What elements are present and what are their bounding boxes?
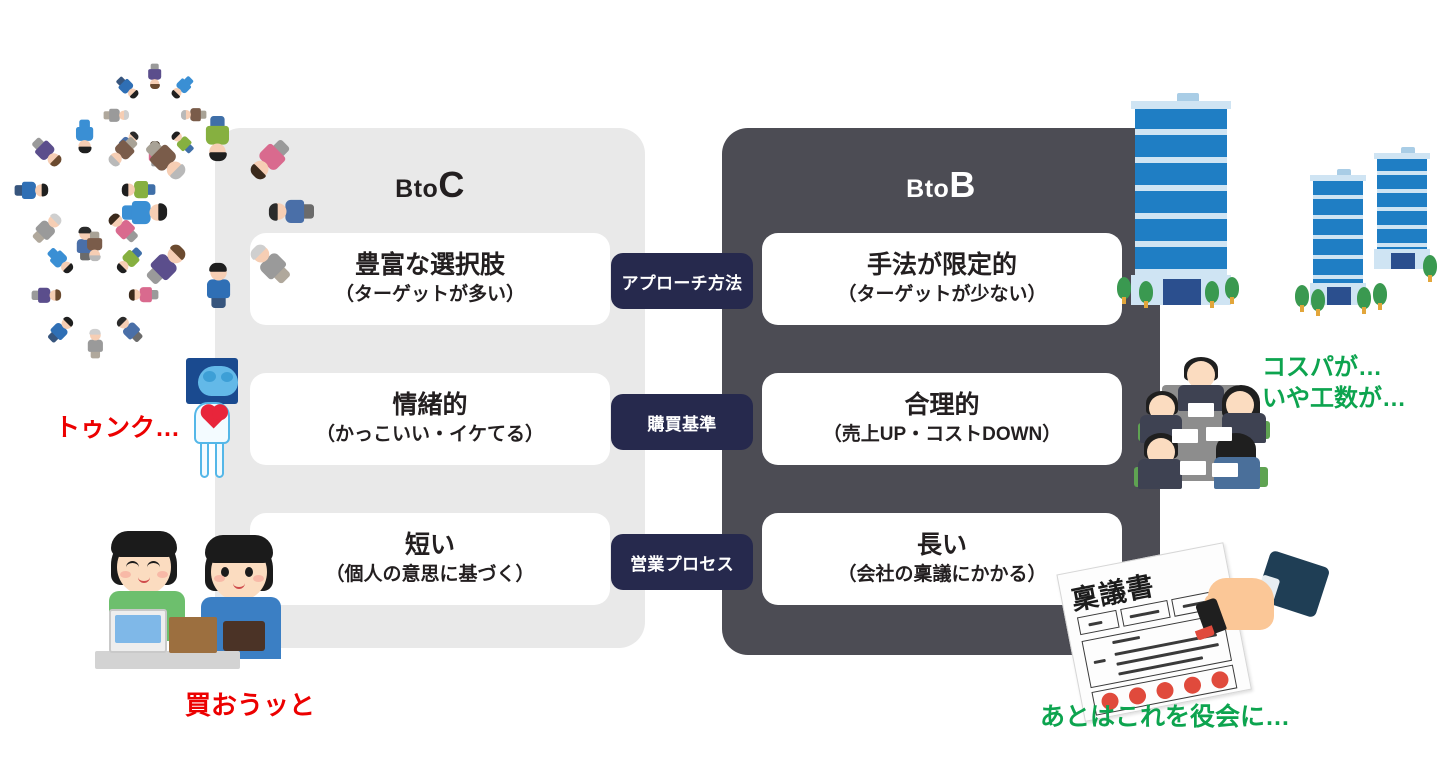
building-tall-band-5 [1135, 241, 1227, 247]
meeting-paper [1212, 463, 1238, 477]
person-figure [87, 330, 103, 359]
btoc-card-approach-main: 豊富な選択肢 [355, 250, 505, 280]
figure-leg-right [215, 442, 224, 478]
person-figure [105, 134, 141, 170]
building-mid-band-3 [1313, 235, 1363, 239]
building-right-band-4 [1377, 225, 1427, 229]
btob-card-approach-sub: （ターゲットが少ない） [837, 282, 1046, 308]
meeting-paper [1180, 461, 1206, 475]
person-figure [169, 74, 196, 101]
clerk-eye-right [147, 561, 160, 568]
meeting-paper [1188, 403, 1214, 417]
people-ring-2 [25, 130, 145, 250]
clerk-fringe [111, 531, 177, 557]
person-figure [148, 64, 162, 89]
person-figure [246, 136, 294, 184]
btoc-card-approach-sub: （ターゲットが多い） [335, 282, 525, 308]
clerk-eye-left [126, 561, 139, 568]
person-figure [206, 264, 230, 308]
building-mid-door [1327, 287, 1351, 305]
btob-title-suffix: B [949, 164, 976, 205]
building-tall-band-2 [1135, 157, 1227, 163]
person-figure [142, 136, 190, 184]
customer-cheek-right [253, 575, 264, 582]
annotation-kaou: 買おうッと [185, 689, 315, 723]
person-figure [45, 314, 77, 346]
building-mid-band-2 [1313, 215, 1363, 219]
btoc-card-criteria: 情緒的 （かっこいい・イケてる） [250, 373, 610, 465]
center-label-approach: アプローチ方法 [611, 253, 753, 309]
annotation-cospa: コスパが… いや工数が… [1262, 352, 1406, 414]
meeting-paper [1172, 429, 1198, 443]
shop-counter [95, 651, 240, 669]
btob-title-prefix: Bto [906, 175, 949, 203]
btob-card-approach-main: 手法が限定的 [867, 250, 1017, 280]
building-mid-band-4 [1313, 255, 1363, 259]
person-figure [182, 108, 207, 122]
building-tall-band-3 [1135, 185, 1227, 191]
person-figure [270, 200, 314, 224]
person-figure [87, 232, 103, 261]
business-meeting-illustration [1130, 345, 1280, 495]
btoc-title-suffix: C [438, 164, 465, 205]
people-ring-3 [40, 240, 150, 350]
stamping-hand-illustration [1200, 556, 1330, 666]
meeting-paper [1206, 427, 1232, 441]
person-figure [32, 287, 61, 303]
building-mid-band-1 [1313, 195, 1363, 199]
center-label-criteria: 購買基準 [611, 394, 753, 450]
btob-card-process-main: 長い [917, 530, 967, 560]
clerk-cheek-right [157, 571, 168, 578]
building-right-band-3 [1377, 207, 1427, 211]
btob-panel-title: BtoB [722, 164, 1160, 206]
building-right-door [1391, 253, 1415, 269]
customer-wallet [223, 621, 265, 651]
building-mid-top [1310, 175, 1366, 181]
btob-card-criteria-main: 合理的 [904, 390, 979, 420]
person-figure [246, 240, 294, 288]
building-tall-door [1163, 279, 1201, 305]
btob-card-approach: 手法が限定的 （ターゲットが少ない） [762, 233, 1122, 325]
building-right-top [1374, 153, 1430, 159]
person-figure [15, 181, 48, 199]
figure-leg-left [200, 442, 209, 478]
btob-card-criteria: 合理的 （売上UP・コストDOWN） [762, 373, 1122, 465]
building-right-band-1 [1377, 171, 1427, 175]
customer-fringe [205, 535, 273, 563]
center-label-process: 営業プロセス [611, 534, 753, 590]
building-tall-band-4 [1135, 213, 1227, 219]
person-figure [76, 120, 94, 153]
clerk-cheek-left [120, 571, 131, 578]
brain-heart-figure-illustration [180, 358, 244, 482]
person-figure [104, 108, 129, 122]
people-rings-illustration [20, 60, 340, 325]
brain-icon [198, 366, 238, 396]
building-right-band-2 [1377, 189, 1427, 193]
customer-cheek-left [214, 575, 225, 582]
person-figure [142, 240, 190, 288]
register-screen [115, 615, 161, 643]
person-figure [206, 116, 230, 160]
btoc-card-process-main: 短い [405, 530, 455, 560]
btoc-title-prefix: Bto [395, 175, 438, 203]
office-buildings-illustration [1115, 85, 1440, 330]
building-tall-band-1 [1135, 129, 1227, 135]
annotation-yakukai: あとはこれを役会に… [1040, 701, 1290, 734]
customer-eye-right [245, 567, 253, 577]
btoc-card-criteria-sub: （かっこいい・イケてる） [316, 422, 544, 448]
building-right-band-5 [1377, 243, 1427, 247]
diagram-canvas: BtoC 豊富な選択肢 （ターゲットが多い） 情緒的 （かっこいい・イケてる） … [0, 0, 1440, 776]
btob-card-process-sub: （会社の稟議にかかる） [837, 562, 1046, 588]
people-ring-4 [138, 132, 298, 292]
person-figure [114, 314, 146, 346]
btob-card-criteria-sub: （売上UP・コストDOWN） [823, 422, 1062, 448]
brain-screen-icon [186, 358, 238, 404]
annotation-tunku: トゥンク… [55, 412, 180, 445]
shop-checkout-illustration [95, 525, 310, 685]
person-figure [122, 200, 166, 224]
btoc-card-process-sub: （個人の意思に基づく） [325, 562, 534, 588]
person-figure [45, 245, 77, 277]
building-mid-band-5 [1313, 275, 1363, 279]
person-figure [29, 134, 65, 170]
person-figure [114, 74, 141, 101]
building-tall-top [1131, 101, 1231, 109]
meeting-person-suit [1138, 459, 1182, 489]
shop-package-box [169, 617, 217, 653]
btoc-card-criteria-main: 情緒的 [392, 390, 467, 420]
